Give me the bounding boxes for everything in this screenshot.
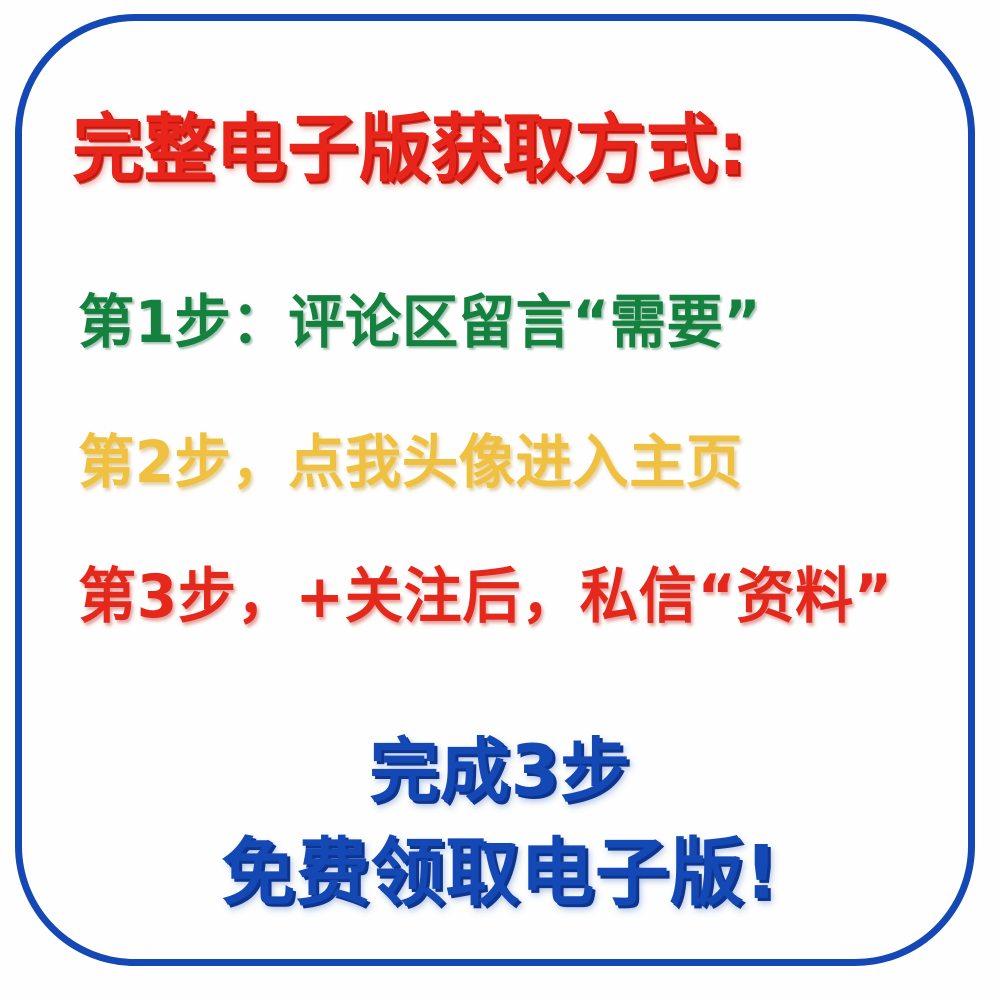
promo-card: 完整电子版获取方式: 第1步：评论区留言“需要” 第2步，点我头像进入主页 第3… <box>0 0 1000 1000</box>
step-item-2: 第2步，点我头像进入主页 <box>78 433 743 491</box>
page-title: 完整电子版获取方式: <box>72 112 747 186</box>
cta-subheadline: 免费领取电子版! <box>0 836 1000 910</box>
step-item-1: 第1步：评论区留言“需要” <box>78 293 761 351</box>
step-item-3: 第3步，+关注后，私信“资料” <box>78 567 893 627</box>
cta-headline: 完成3步 <box>0 736 1000 806</box>
